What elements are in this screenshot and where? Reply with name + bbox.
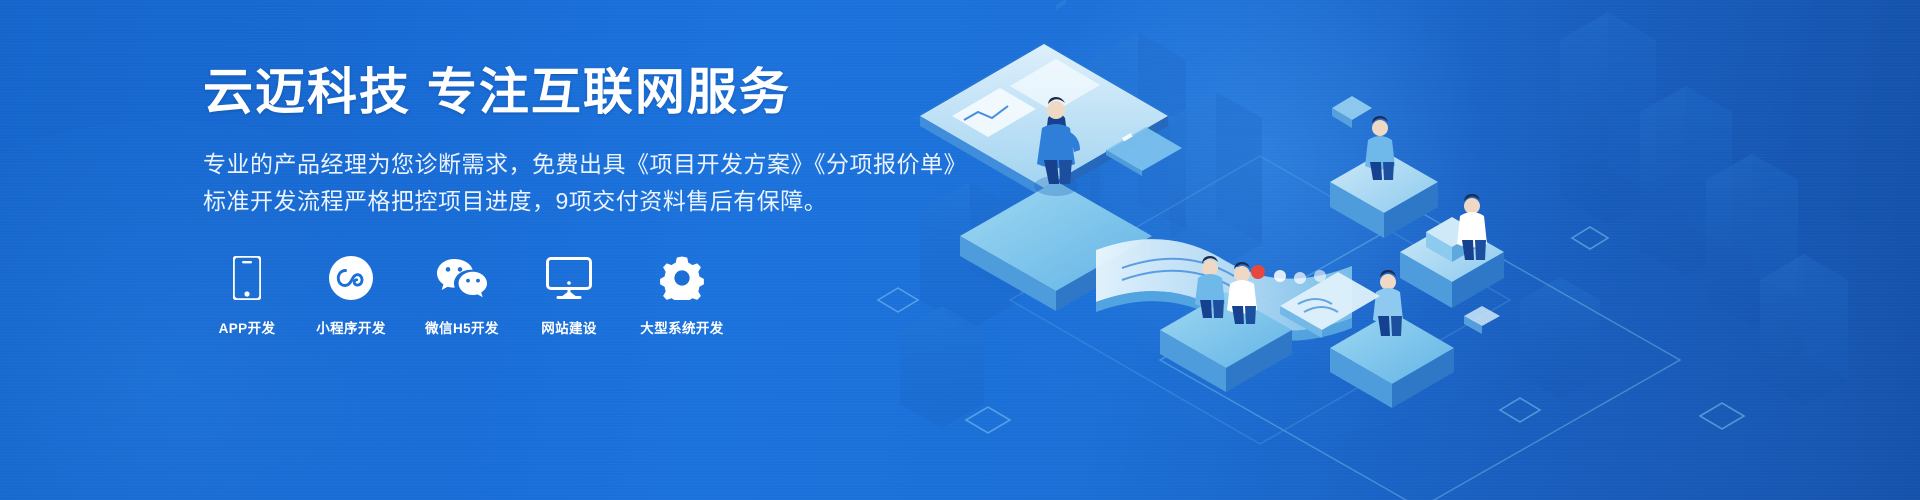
service-item-system[interactable]: 大型系统开发 xyxy=(630,255,734,337)
gear-icon xyxy=(660,255,704,301)
service-item-wechat[interactable]: 微信H5开发 xyxy=(416,255,508,337)
step-block-middle xyxy=(1400,217,1504,308)
subtitle-line-1: 专业的产品经理为您诊断需求，免费出具《项目开发方案》《分项报价单》 xyxy=(203,146,903,183)
subtitle-line-2: 标准开发流程严格把控项目进度，9项交付资料售后有保障。 xyxy=(203,183,903,220)
service-list: APP开发 小程序开发 xyxy=(208,255,903,337)
service-label-miniprogram: 小程序开发 xyxy=(316,317,386,337)
mini-program-icon xyxy=(329,255,373,301)
banner-content: 云迈科技 专注互联网服务 专业的产品经理为您诊断需求，免费出具《项目开发方案》《… xyxy=(203,64,903,337)
hero-banner: 云迈科技 专注互联网服务 专业的产品经理为您诊断需求，免费出具《项目开发方案》《… xyxy=(0,0,1920,500)
wechat-icon xyxy=(436,255,488,301)
monitor-icon xyxy=(546,255,592,301)
service-item-miniprogram[interactable]: 小程序开发 xyxy=(308,255,394,337)
mobile-phone-icon xyxy=(233,255,261,301)
isometric-illustration xyxy=(860,0,1920,500)
service-item-app[interactable]: APP开发 xyxy=(208,255,286,337)
service-label-wechat: 微信H5开发 xyxy=(425,317,499,337)
banner-subtitle: 专业的产品经理为您诊断需求，免费出具《项目开发方案》《分项报价单》 标准开发流程… xyxy=(203,146,903,221)
service-label-system: 大型系统开发 xyxy=(640,317,723,337)
service-label-app: APP开发 xyxy=(219,317,276,337)
page-title: 云迈科技 专注互联网服务 xyxy=(203,64,903,120)
service-item-website[interactable]: 网站建设 xyxy=(530,255,608,337)
service-label-website: 网站建设 xyxy=(541,317,597,337)
